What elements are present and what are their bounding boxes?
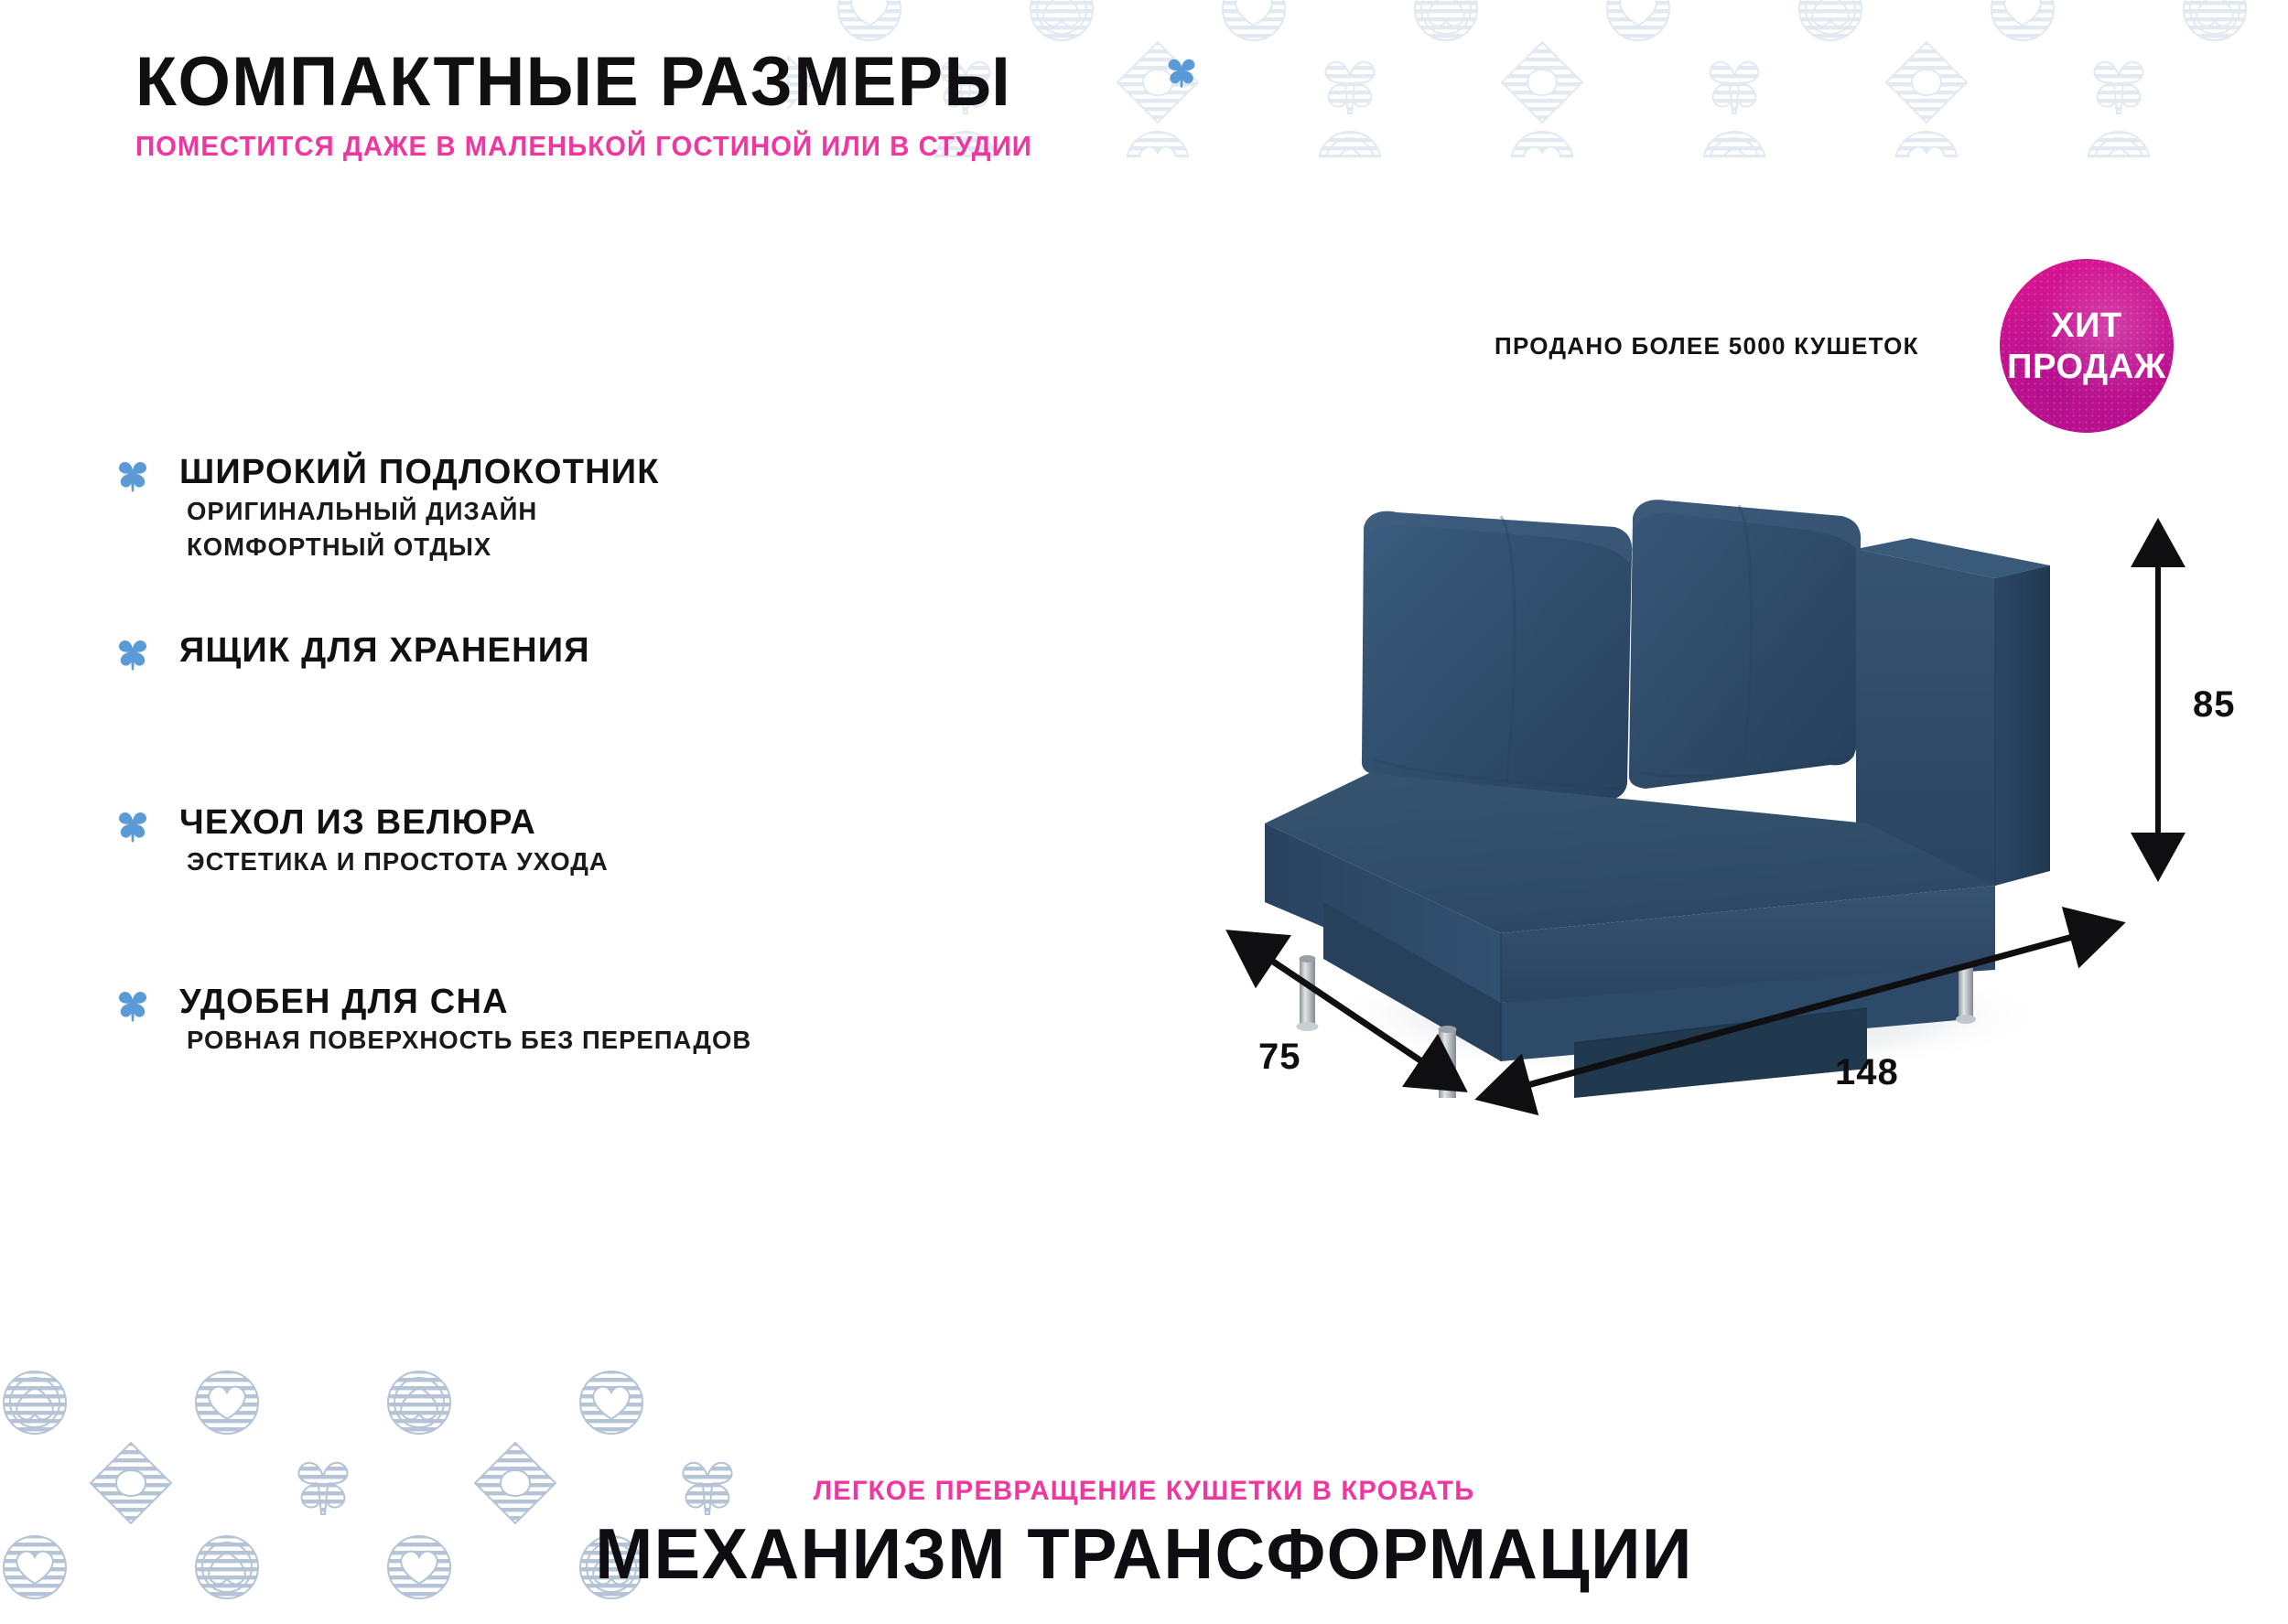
feature-subtitle-1: ОРИГИНАЛЬНЫЙ ДИЗАЙН <box>187 493 1032 529</box>
feature-subtitle-1: РОВНАЯ ПОВЕРХНОСТЬ БЕЗ ПЕРЕПАДОВ <box>187 1022 1032 1058</box>
page-title: КОМПАКТНЫЕ РАЗМЕРЫ <box>135 48 1041 117</box>
feature-item-velour-cover: ЧЕХОЛ ИЗ ВЕЛЮРА ЭСТЕТИКА И ПРОСТОТА УХОД… <box>117 802 1032 879</box>
product-image-sofa <box>1226 457 2151 1098</box>
feature-item-wide-armrest: ШИРОКИЙ ПОДЛОКОТНИК ОРИГИНАЛЬНЫЙ ДИЗАЙН … <box>117 452 1032 565</box>
feature-title: УДОБЕН ДЛЯ СНА <box>179 982 1032 1023</box>
status-badge: ХИТ ПРОДАЖ <box>2000 259 2174 433</box>
dimension-height-label: 85 <box>2193 684 2236 726</box>
badge-line-1: ХИТ <box>2051 308 2122 343</box>
sold-count-note: ПРОДАНО БОЛЕЕ 5000 КУШЕТОК <box>1495 332 1919 360</box>
feature-item-sleep-comfort: УДОБЕН ДЛЯ СНА РОВНАЯ ПОВЕРХНОСТЬ БЕЗ ПЕ… <box>117 982 1032 1059</box>
footer-block: ЛЕГКОЕ ПРЕВРАЩЕНИЕ КУШЕТКИ В КРОВАТЬ МЕХ… <box>0 1476 2288 1589</box>
footer-kicker: ЛЕГКОЕ ПРЕВРАЩЕНИЕ КУШЕТКИ В КРОВАТЬ <box>35 1476 2254 1507</box>
header-block: КОМПАКТНЫЕ РАЗМЕРЫ ПОМЕСТИТСЯ ДАЖЕ В МАЛ… <box>135 48 1070 163</box>
infographic-page: КОМПАКТНЫЕ РАЗМЕРЫ ПОМЕСТИТСЯ ДАЖЕ В МАЛ… <box>0 0 2288 1624</box>
feature-title: ЧЕХОЛ ИЗ ВЕЛЮРА <box>179 802 1032 844</box>
badge-line-2: ПРОДАЖ <box>2007 350 2166 384</box>
clover-bullet-icon <box>117 808 148 844</box>
clover-bullet-icon <box>117 457 148 494</box>
feature-title: ШИРОКИЙ ПОДЛОКОТНИК <box>179 452 1032 493</box>
dimension-depth-label: 75 <box>1258 1037 1301 1078</box>
feature-item-storage-box: ЯЩИК ДЛЯ ХРАНЕНИЯ <box>117 630 1032 672</box>
clover-bullet-icon <box>117 987 148 1024</box>
feature-subtitle-2: КОМФОРТНЫЙ ОТДЫХ <box>187 529 1032 565</box>
page-subtitle: ПОМЕСТИТСЯ ДАЖЕ В МАЛЕНЬКОЙ ГОСТИНОЙ ИЛИ… <box>135 131 1032 163</box>
feature-title: ЯЩИК ДЛЯ ХРАНЕНИЯ <box>179 630 1032 672</box>
clover-bullet-icon <box>117 636 148 672</box>
footer-title: МЕХАНИЗМ ТРАНСФОРМАЦИИ <box>35 1518 2254 1589</box>
feature-list: ШИРОКИЙ ПОДЛОКОТНИК ОРИГИНАЛЬНЫЙ ДИЗАЙН … <box>117 452 1032 1059</box>
dimension-width-label: 148 <box>1835 1052 1899 1093</box>
clover-icon <box>1164 53 1199 93</box>
feature-subtitle-1: ЭСТЕТИКА И ПРОСТОТА УХОДА <box>187 844 1032 879</box>
